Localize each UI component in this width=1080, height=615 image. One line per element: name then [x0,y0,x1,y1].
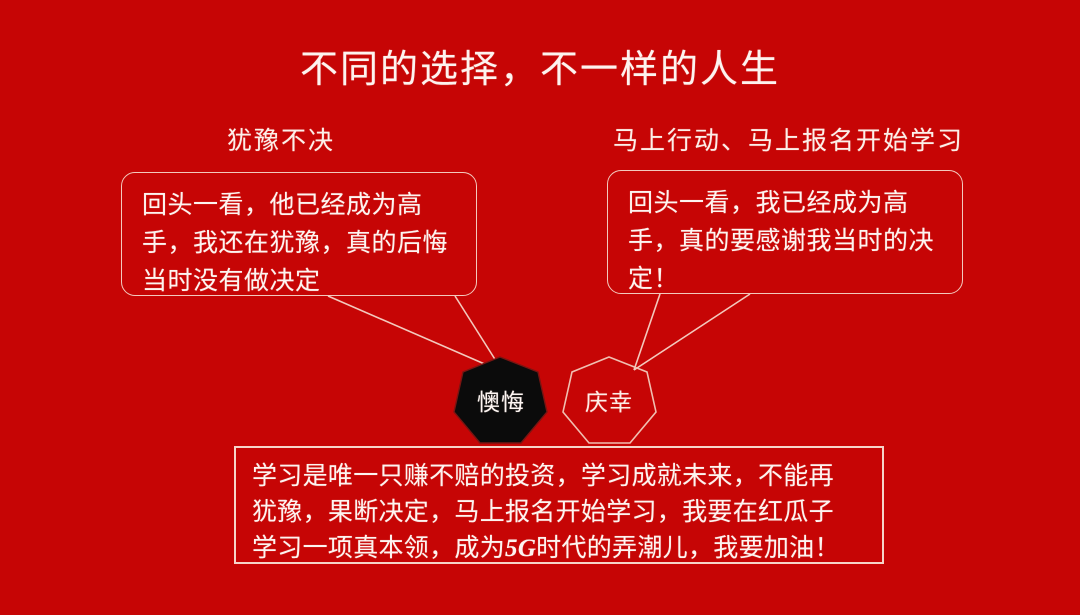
speech-bubble-right: 回头一看，我已经成为高手，真的要感谢我当时的决定！ [607,170,963,294]
column-heading-left: 犹豫不决 [227,121,335,157]
right-bubble-tail [634,294,750,370]
column-heading-right: 马上行动、马上报名开始学习 [613,121,964,157]
regret-node-label: 懊悔 [466,383,536,417]
lucky-node-label: 庆幸 [573,383,645,417]
slide-canvas: 不同的选择，不一样的人生 犹豫不决 马上行动、马上报名开始学习 回头一看，他已经… [0,0,1080,615]
five-g-highlight: 5G [505,535,536,562]
bottom-line-3: 学习一项真本领，成为5G时代的弄潮儿，我要加油！ [252,531,868,567]
bottom-callout-box: 学习是唯一只赚不赔的投资，学习成就未来，不能再 犹豫，果断决定，马上报名开始学习… [234,446,884,564]
bottom-line-1: 学习是唯一只赚不赔的投资，学习成就未来，不能再 [252,459,868,495]
left-bubble-tail [328,296,503,372]
speech-bubble-left: 回头一看，他已经成为高手，我还在犹豫，真的后悔当时没有做决定 [121,172,477,296]
page-title: 不同的选择，不一样的人生 [0,38,1080,93]
bottom-line-3-suffix: 时代的弄潮儿，我要加油！ [536,535,840,562]
bottom-line-2: 犹豫，果断决定，马上报名开始学习，我要在红瓜子 [252,495,868,531]
bottom-line-3-prefix: 学习一项真本领，成为 [252,535,505,562]
